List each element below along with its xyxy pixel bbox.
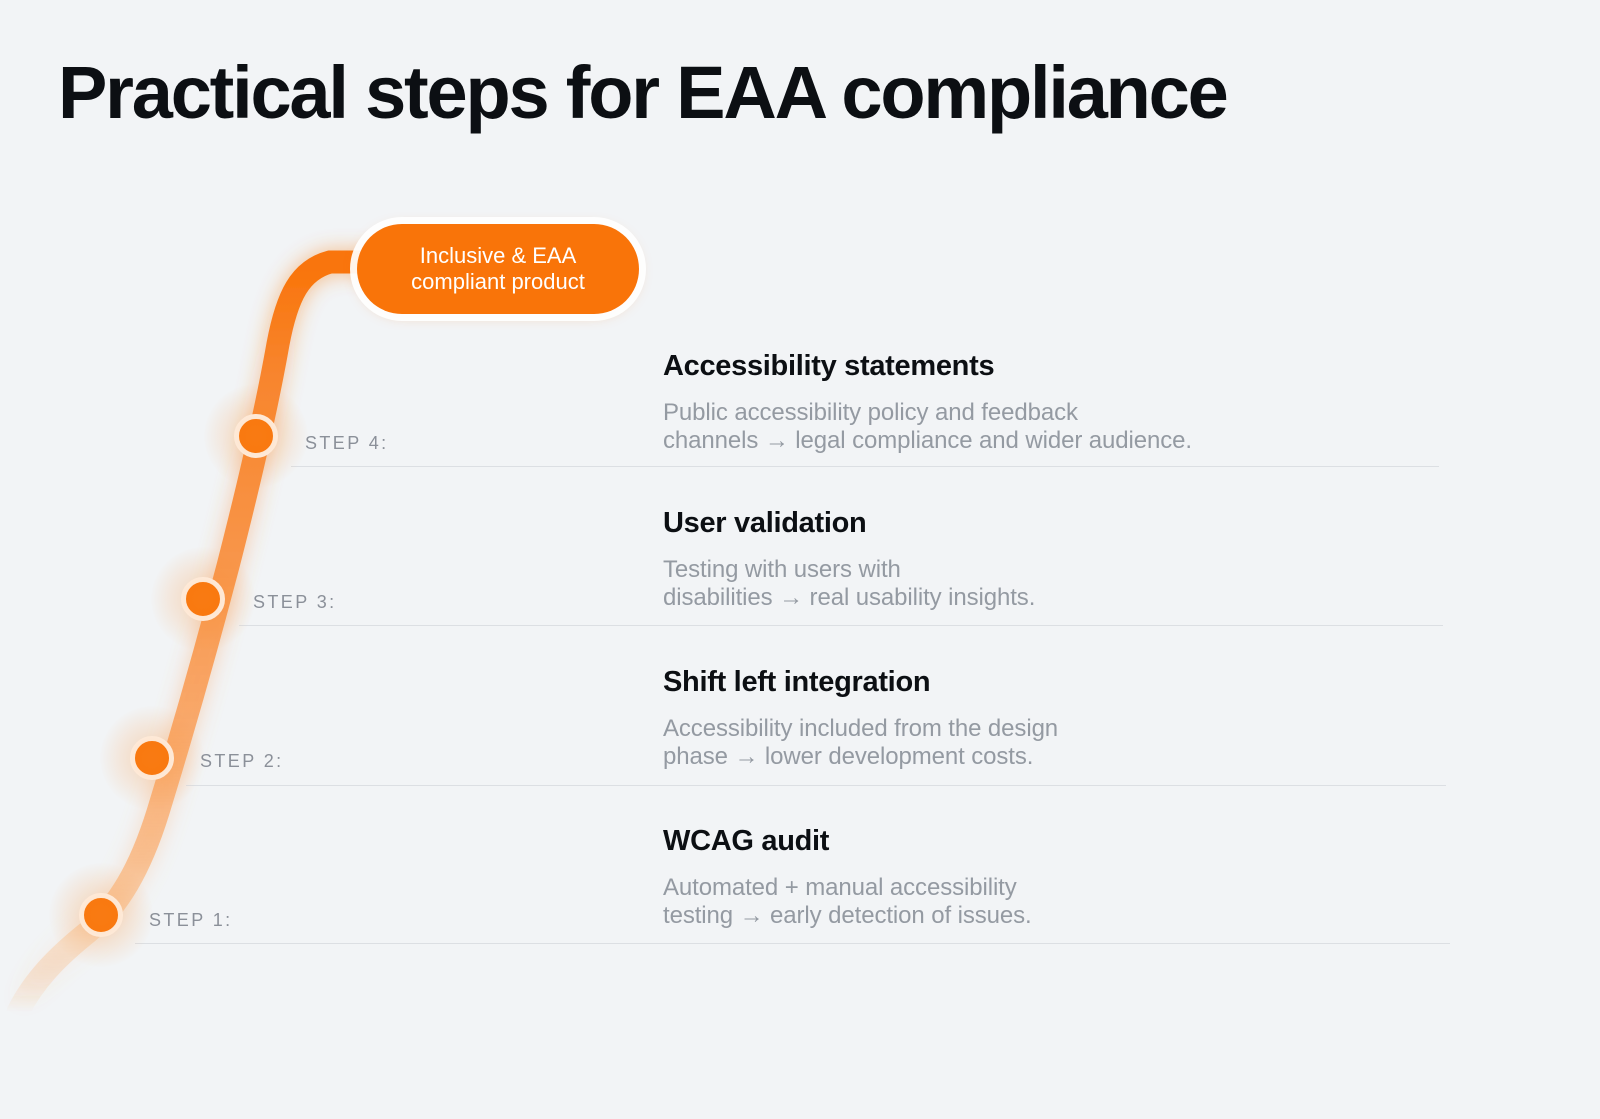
step-description-2: Accessibility included from the design p… <box>663 715 1058 771</box>
step-divider-3 <box>239 625 1443 626</box>
step-dot-2[interactable] <box>130 736 174 780</box>
step-dot-3[interactable] <box>181 577 225 621</box>
step-heading-1: WCAG audit <box>663 825 829 858</box>
outcome-badge-label: Inclusive & EAA compliant product <box>393 243 603 295</box>
step-heading-2: Shift left integration <box>663 666 930 699</box>
step-divider-4 <box>291 466 1439 467</box>
step-label-3: STEP 3: <box>253 592 337 613</box>
step-label-4: STEP 4: <box>305 433 389 454</box>
step-divider-2 <box>186 785 1446 786</box>
step-heading-3: User validation <box>663 507 866 540</box>
step-label-2: STEP 2: <box>200 751 284 772</box>
page-title: Practical steps for EAA compliance <box>58 56 1227 130</box>
step-description-4: Public accessibility policy and feedback… <box>663 399 1192 455</box>
step-divider-1 <box>135 943 1450 944</box>
step-dot-1[interactable] <box>79 893 123 937</box>
step-dot-4[interactable] <box>234 414 278 458</box>
outcome-badge[interactable]: Inclusive & EAA compliant product <box>357 224 639 314</box>
step-description-1: Automated + manual accessibility testing… <box>663 874 1032 930</box>
step-description-3: Testing with users with disabilities → r… <box>663 556 1035 612</box>
step-heading-4: Accessibility statements <box>663 350 994 383</box>
step-label-1: STEP 1: <box>149 910 233 931</box>
infographic-canvas: Practical steps for EAA compliance <box>0 0 1600 1119</box>
